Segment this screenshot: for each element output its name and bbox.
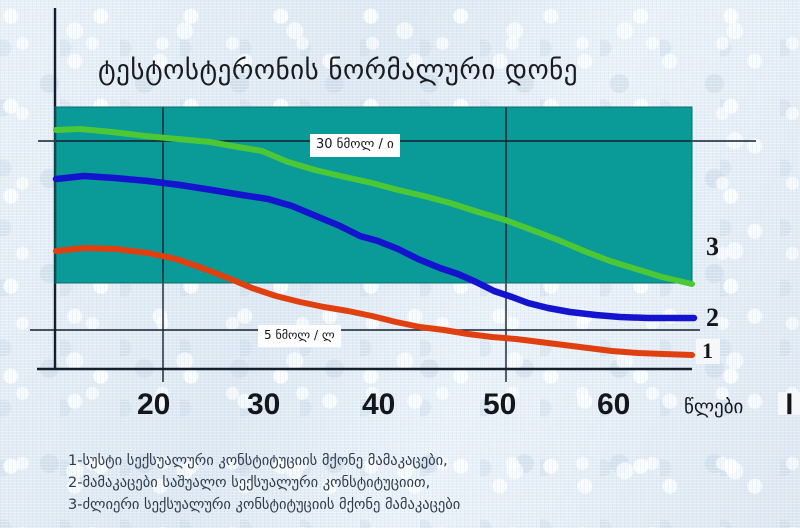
x-axis-unit-label: წლები — [684, 396, 743, 418]
x-axis-end-marker: ❙ — [778, 392, 800, 415]
x-tick-40: 40 — [362, 388, 395, 422]
series-label-weak: 1 — [696, 339, 720, 364]
legend: 1-სუსტი სექსუალური კონსტიტუციის მქონე მა… — [68, 450, 708, 516]
legend-item-2: 2-მამაკაცები საშუალო სექსუალური კონსტიტუ… — [68, 472, 708, 494]
series-label-medium: 2 — [706, 303, 719, 333]
chart-canvas: ტესტოსტერონის ნორმალური დონე 30 ნმოლ / ი… — [0, 0, 800, 528]
x-tick-20: 20 — [137, 388, 170, 422]
legend-item-3: 3-ძლიერი სექსუალური კონსტიტუციის მქონე მ… — [68, 494, 708, 516]
series-label-strong: 3 — [706, 232, 719, 262]
reference-label-30: 30 ნმოლ / ი — [310, 134, 400, 157]
x-tick-60: 60 — [597, 388, 630, 422]
plot-svg — [0, 0, 800, 528]
reference-label-5: 5 ნმოლ / ლ — [258, 325, 341, 347]
legend-item-1: 1-სუსტი სექსუალური კონსტიტუციის მქონე მა… — [68, 450, 708, 472]
x-tick-50: 50 — [483, 388, 516, 422]
x-tick-30: 30 — [247, 388, 280, 422]
